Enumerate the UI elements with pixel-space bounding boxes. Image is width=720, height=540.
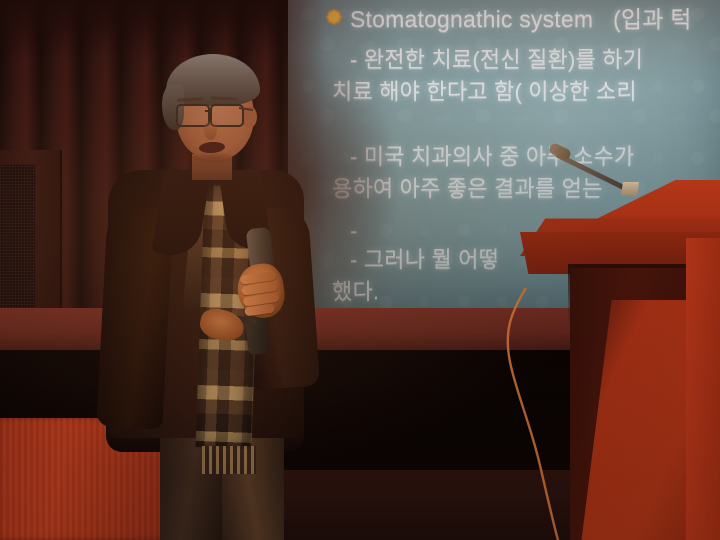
scarf-fringe: [202, 446, 256, 474]
gooseneck-microphone-base: [621, 182, 639, 196]
podium: [520, 180, 720, 540]
curtain-top-shadow: [0, 0, 330, 60]
presenter: [96, 58, 326, 540]
eyeglasses-bridge: [205, 110, 212, 112]
nose: [204, 120, 217, 140]
podium-right-side: [686, 238, 720, 540]
chin-shadow: [188, 152, 240, 164]
lecture-photo-scene: Stomatognathic system (입과 턱 - 완전한 치료(전신 …: [0, 0, 720, 540]
